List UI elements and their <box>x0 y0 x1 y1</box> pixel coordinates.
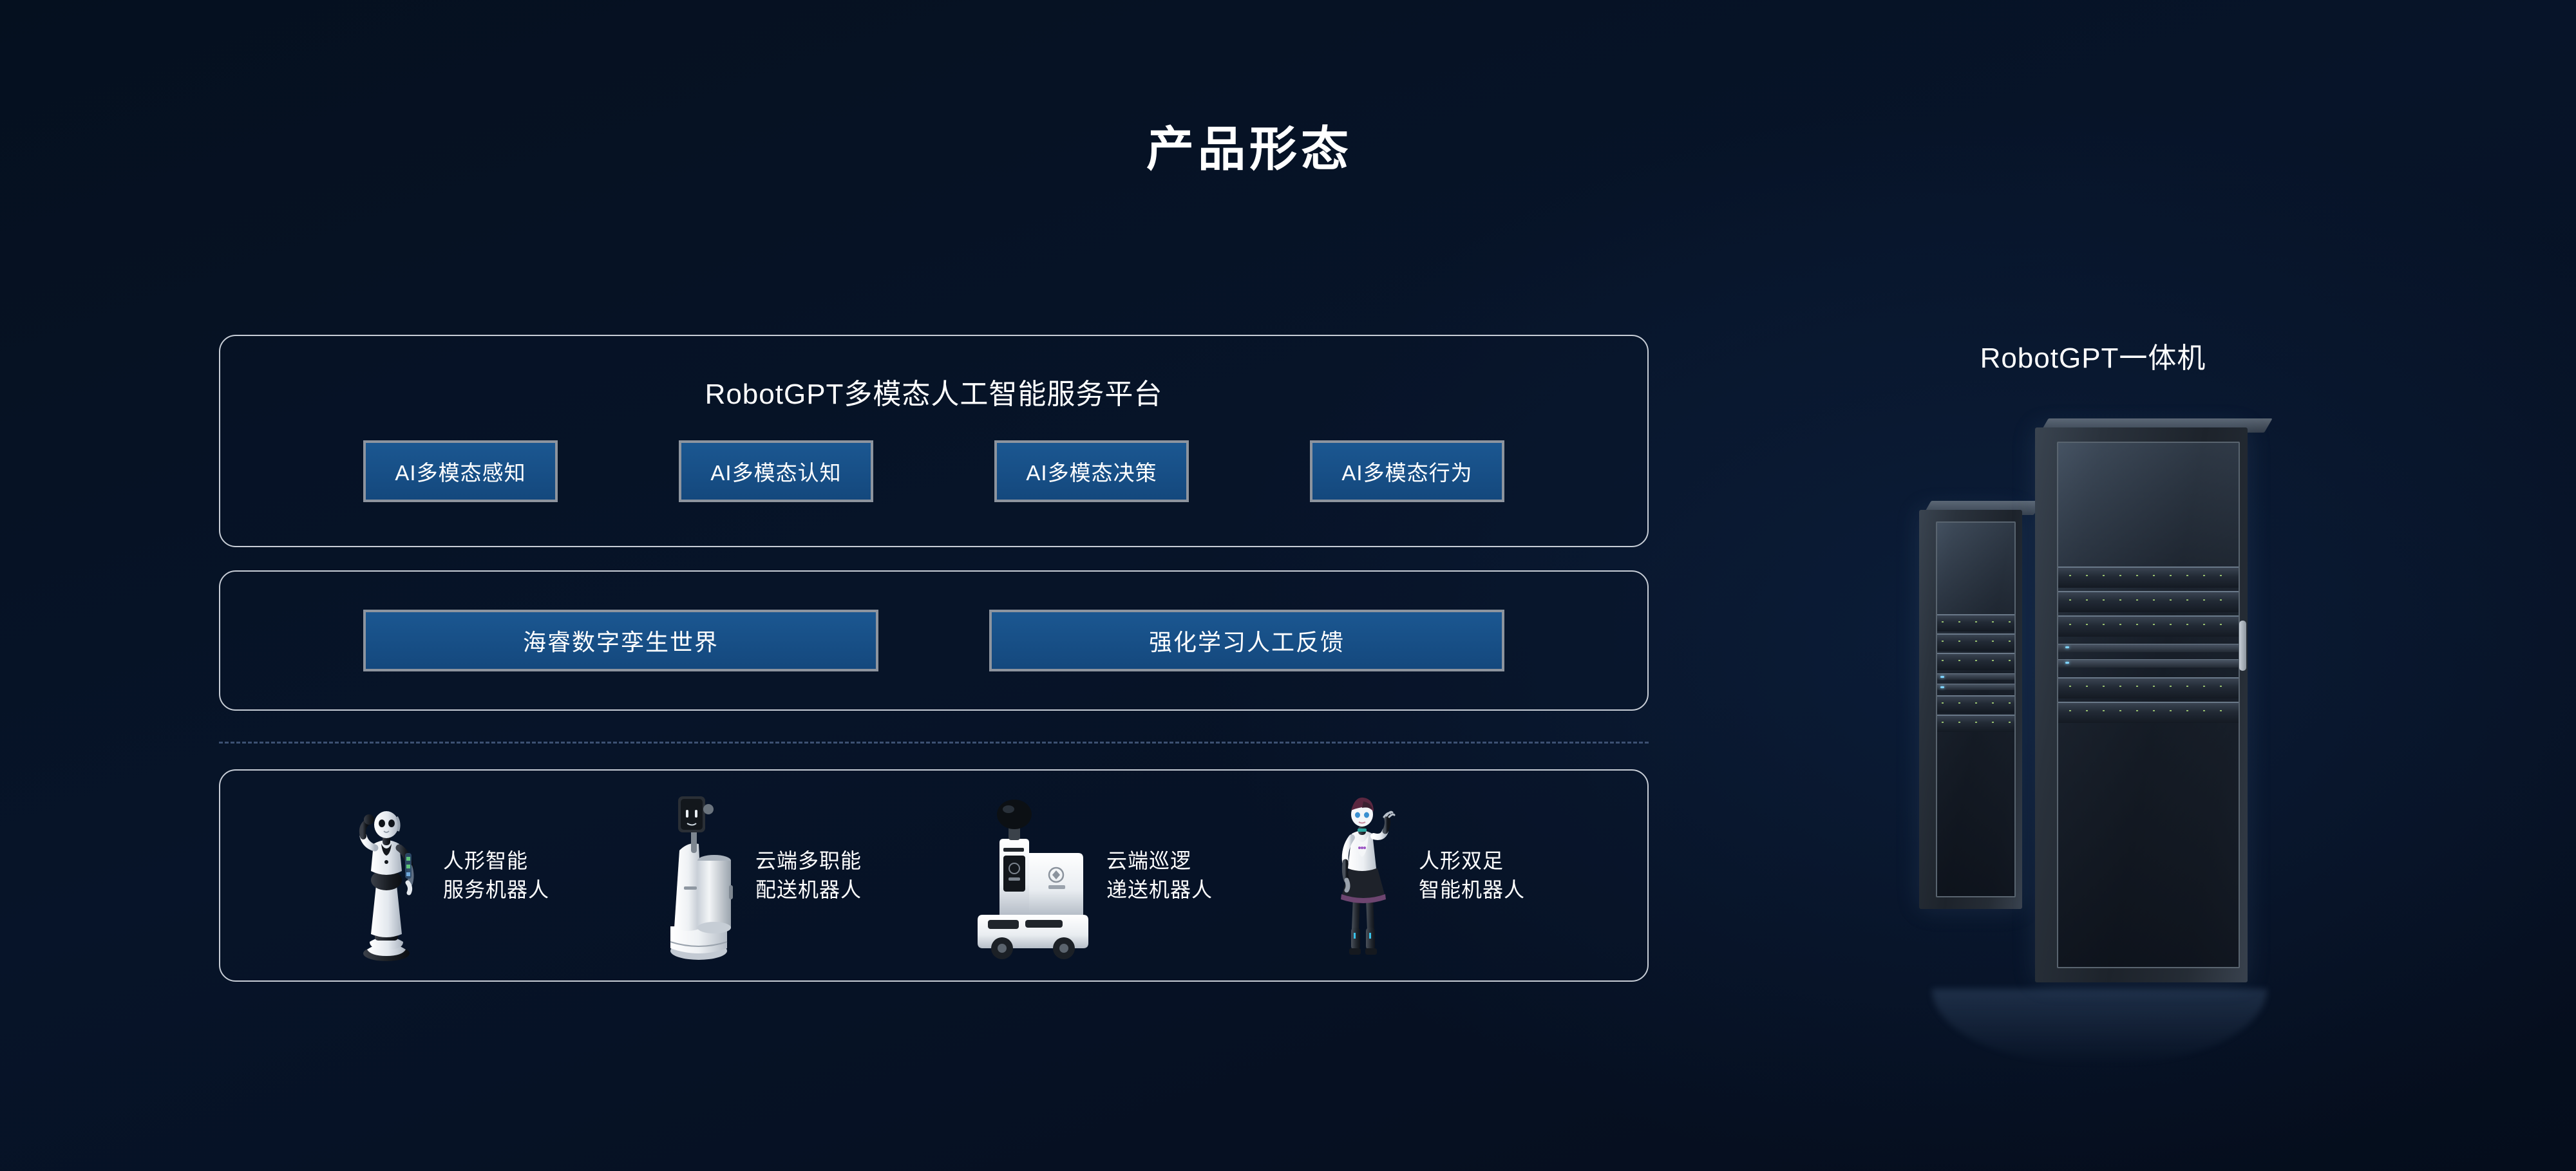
robot-label-line2: 智能机器人 <box>1419 876 1525 904</box>
robot-row: 人形智能 服务机器人 <box>220 789 1647 962</box>
appliance-section: RobotGPT一体机 <box>1868 335 2318 989</box>
engine-chip-rlhf[interactable]: 强化学习人工反馈 <box>989 610 1504 671</box>
robot-label: 人形双足 智能机器人 <box>1419 847 1525 905</box>
robot-label: 云端巡逻 递送机器人 <box>1106 847 1213 905</box>
capability-chip-label: AI多模态感知 <box>395 456 526 487</box>
capability-chip-behavior[interactable]: AI多模态行为 <box>1310 440 1504 502</box>
engine-panel: 海睿数字孪生世界 强化学习人工反馈 <box>219 570 1649 711</box>
engine-chip-digital-twin[interactable]: 海睿数字孪生世界 <box>363 610 878 671</box>
robot-label-line1: 人形智能 <box>443 847 549 876</box>
robot-item-humanoid-service[interactable]: 人形智能 服务机器人 <box>341 789 549 962</box>
product-architecture-stack: RobotGPT多模态人工智能服务平台 AI多模态感知 AI多模态认知 AI多模… <box>219 335 1649 982</box>
humanoid-service-robot-icon <box>341 789 431 962</box>
robot-label-line2: 配送机器人 <box>755 876 862 904</box>
robot-label: 云端多职能 配送机器人 <box>755 847 862 905</box>
robot-label: 人形智能 服务机器人 <box>443 847 549 905</box>
server-cabinet-primary <box>2035 427 2248 982</box>
cloud-delivery-robot-icon <box>654 789 744 962</box>
capability-chip-cognition[interactable]: AI多模态认知 <box>679 440 873 502</box>
capability-row: AI多模态感知 AI多模态认知 AI多模态决策 AI多模态行为 <box>220 412 1647 502</box>
robot-label-line2: 服务机器人 <box>443 876 549 904</box>
capability-chip-label: AI多模态认知 <box>710 456 841 487</box>
capability-chip-perception[interactable]: AI多模态感知 <box>363 440 558 502</box>
platform-panel: RobotGPT多模态人工智能服务平台 AI多模态感知 AI多模态认知 AI多模… <box>219 335 1649 547</box>
cloud-patrol-robot-icon <box>966 789 1095 962</box>
appliance-title: RobotGPT一体机 <box>1868 335 2318 376</box>
robot-label-line2: 递送机器人 <box>1106 876 1213 904</box>
robot-label-line1: 云端巡逻 <box>1106 847 1213 876</box>
capability-chip-decision[interactable]: AI多模态决策 <box>994 440 1189 502</box>
rack-reflection <box>1932 989 2267 1066</box>
robot-label-line1: 云端多职能 <box>755 847 862 876</box>
section-divider <box>219 742 1649 744</box>
engine-row: 海睿数字孪生世界 强化学习人工反馈 <box>220 610 1647 671</box>
server-rack-icon <box>1913 409 2273 989</box>
server-cabinet-secondary <box>1919 510 2022 909</box>
robots-panel: 人形智能 服务机器人 <box>219 769 1649 982</box>
capability-chip-label: AI多模态决策 <box>1026 456 1157 487</box>
bipedal-humanoid-robot-icon <box>1317 789 1407 962</box>
engine-chip-label: 强化学习人工反馈 <box>1149 624 1345 657</box>
robot-item-cloud-delivery[interactable]: 云端多职能 配送机器人 <box>654 789 862 962</box>
page-title: 产品形态 <box>0 111 2576 180</box>
engine-chip-label: 海睿数字孪生世界 <box>523 624 719 657</box>
robot-item-cloud-patrol[interactable]: 云端巡逻 递送机器人 <box>966 789 1213 962</box>
platform-title: RobotGPT多模态人工智能服务平台 <box>220 336 1647 412</box>
robot-item-bipedal-humanoid[interactable]: 人形双足 智能机器人 <box>1317 789 1525 962</box>
robot-label-line1: 人形双足 <box>1419 847 1525 876</box>
capability-chip-label: AI多模态行为 <box>1341 456 1472 487</box>
